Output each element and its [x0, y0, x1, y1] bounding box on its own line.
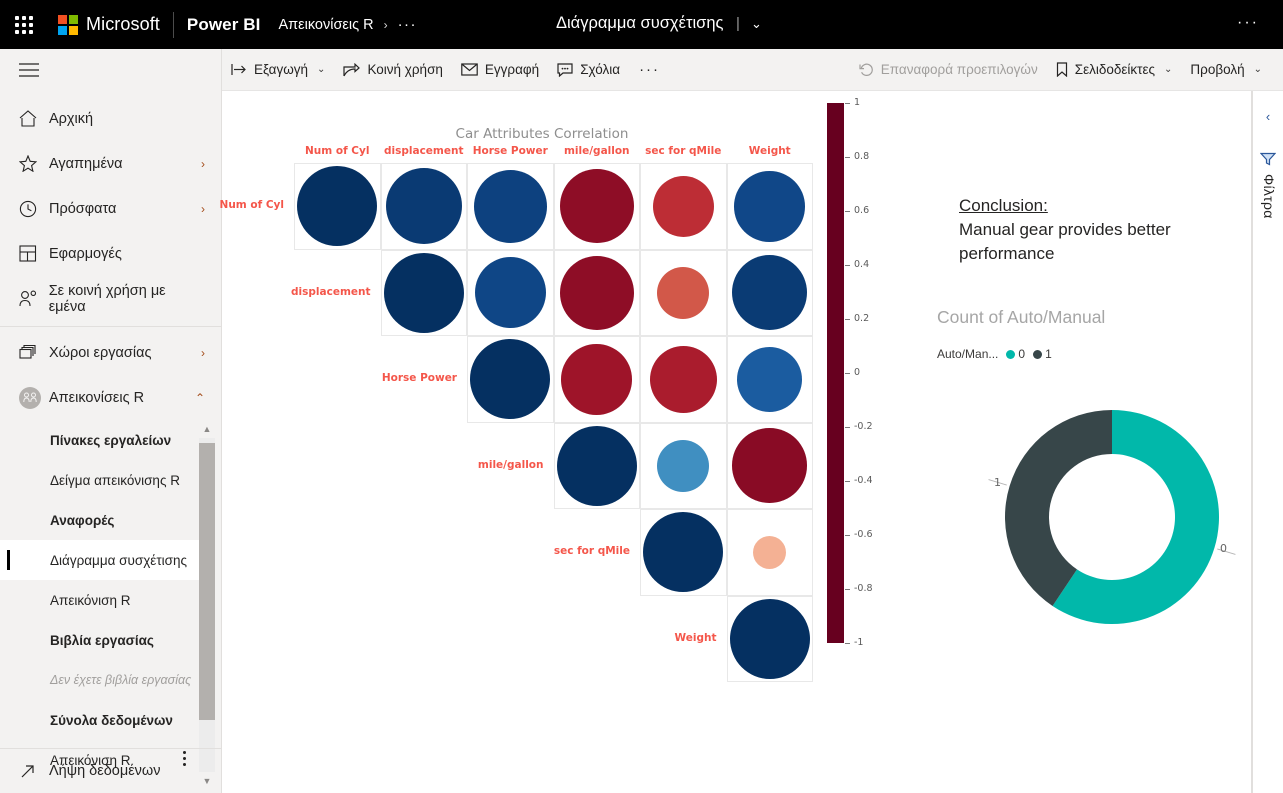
- matrix-circle: [753, 536, 786, 569]
- list-section-header-workbooks: Βιβλία εργασίας: [0, 620, 200, 660]
- conclusion-text: Manual gear provides better performance: [959, 218, 1229, 266]
- sidebar-item-label: Απεικονίσεις R: [49, 390, 195, 406]
- matrix-circle: [386, 168, 462, 244]
- matrix-cell[interactable]: [727, 336, 814, 423]
- conclusion-textbox: Conclusion: Manual gear provides better …: [959, 196, 1229, 266]
- workspace-content-list: Πίνακες εργαλείων Δείγμα απεικόνισης R Α…: [0, 420, 221, 790]
- matrix-circle: [474, 170, 547, 243]
- reset-to-default-button: Επαναφορά προεπιλογών: [850, 49, 1047, 91]
- app-launcher-icon[interactable]: [0, 0, 48, 49]
- colorbar-tick-mark: [845, 481, 850, 482]
- list-item-report-r-visual[interactable]: Απεικόνιση R: [0, 580, 200, 620]
- colorbar-tick: -0.2: [845, 427, 889, 428]
- matrix-cell[interactable]: [640, 163, 727, 250]
- legend-item-1[interactable]: 1: [1033, 347, 1052, 361]
- chevron-up-icon[interactable]: ⌃: [195, 391, 205, 405]
- correlation-colorbar: 10.80.60.40.20-0.2-0.4-0.6-0.8-1: [827, 103, 844, 643]
- matrix-row-label: mile/gallon: [404, 459, 544, 471]
- list-section-header-datasets: Σύνολα δεδομένων: [0, 700, 200, 740]
- workspace-avatar-icon: [19, 387, 49, 409]
- topbar-more-button[interactable]: ···: [1237, 14, 1259, 32]
- colorbar-tick-mark: [845, 103, 850, 104]
- sidebar-item-label: Αγαπημένα: [49, 156, 201, 172]
- colorbar-tick: 0.2: [845, 319, 889, 320]
- list-section-header-reports: Αναφορές: [0, 500, 200, 540]
- legend-swatch-icon: [1033, 350, 1042, 359]
- chevron-right-icon[interactable]: ›: [201, 157, 205, 171]
- colorbar-tick-label: -0.4: [854, 475, 873, 486]
- matrix-circle: [561, 344, 632, 415]
- donut-legend[interactable]: Auto/Man... 0 1: [937, 347, 1052, 361]
- list-item-dashboard-sample[interactable]: Δείγμα απεικόνισης R: [0, 460, 200, 500]
- matrix-circle: [737, 347, 802, 412]
- legend-field-label: Auto/Man...: [937, 347, 998, 361]
- sidebar-item-label: Σε κοινή χρήση με εμένα: [49, 283, 205, 315]
- correlation-chart-title: Car Attributes Correlation: [222, 126, 862, 142]
- matrix-column-label: sec for qMile: [640, 145, 727, 157]
- nav-divider: [0, 326, 221, 327]
- colorbar-tick-mark: [845, 535, 850, 536]
- colorbar-tick-label: 0.4: [854, 259, 869, 270]
- matrix-column-label: Weight: [727, 145, 814, 157]
- sidebar-item-get-data[interactable]: Λήψη δεδομένων: [0, 748, 221, 793]
- divider: [173, 12, 174, 38]
- sidebar-item-r-visuals-workspace[interactable]: Απεικονίσεις R ⌃: [0, 375, 221, 420]
- scrollbar-thumb[interactable]: [199, 443, 215, 720]
- matrix-circle: [560, 256, 634, 330]
- matrix-circle: [732, 428, 807, 503]
- matrix-circle: [470, 339, 550, 419]
- matrix-row-label: displacement: [231, 286, 371, 298]
- legend-item-0[interactable]: 0: [1006, 347, 1025, 361]
- matrix-circle: [650, 346, 717, 413]
- matrix-cell[interactable]: [727, 596, 814, 683]
- donut-slice[interactable]: [1005, 410, 1112, 606]
- list-item-label: Δεν έχετε βιβλία εργασίας: [50, 673, 191, 687]
- sidebar-item-label: Λήψη δεδομένων: [49, 763, 221, 779]
- star-icon: [19, 155, 49, 172]
- filters-label: Φίλτρα: [1261, 174, 1277, 219]
- sidebar-item-shared-with-me[interactable]: Σε κοινή χρήση με εμένα: [0, 276, 221, 321]
- bookmarks-button[interactable]: Σελιδοδείκτες ⌄: [1047, 49, 1182, 91]
- colorbar-tick-mark: [845, 373, 850, 374]
- shared-user-icon: [19, 290, 49, 307]
- matrix-column-label: Horse Power: [467, 145, 554, 157]
- top-navigation-bar: Microsoft Power BI Απεικονίσεις R › ··· …: [0, 0, 1283, 49]
- matrix-cell[interactable]: [554, 423, 641, 510]
- matrix-circle: [643, 512, 723, 592]
- funnel-icon[interactable]: [1253, 152, 1283, 166]
- colorbar-tick: 1: [845, 103, 889, 104]
- filters-pane-collapsed[interactable]: ‹ Φίλτρα: [1252, 91, 1283, 793]
- home-icon: [19, 110, 49, 127]
- list-item-label: Δείγμα απεικόνισης R: [50, 473, 180, 488]
- subscribe-button[interactable]: Εγγραφή: [452, 49, 548, 91]
- list-item-label: Απεικόνιση R: [50, 593, 131, 608]
- colorbar-tick-mark: [845, 319, 850, 320]
- comments-label: Σχόλια: [580, 62, 620, 77]
- colorbar-tick-mark: [845, 157, 850, 158]
- matrix-cell[interactable]: [554, 336, 641, 423]
- share-label: Κοινή χρήση: [367, 62, 442, 77]
- matrix-circle: [730, 599, 810, 679]
- report-command-bar: Εξαγωγή ⌄ Κοινή χρήση Εγγραφή Σχόλια ···…: [222, 49, 1283, 91]
- matrix-cell[interactable]: [467, 336, 554, 423]
- colorbar-tick-label: -0.6: [854, 529, 873, 540]
- export-label: Εξαγωγή: [254, 62, 308, 77]
- matrix-cell[interactable]: [381, 163, 468, 250]
- sidebar-item-label: Εφαρμογές: [49, 246, 205, 262]
- colorbar-tick-label: 0.2: [854, 313, 869, 324]
- scroll-up-icon[interactable]: ▲: [199, 420, 215, 438]
- colorbar-tick: -0.8: [845, 589, 889, 590]
- comments-button[interactable]: Σχόλια: [548, 49, 629, 91]
- matrix-row-label: Horse Power: [317, 372, 457, 384]
- expand-filters-icon[interactable]: ‹: [1253, 109, 1283, 124]
- colorbar-gradient: [827, 103, 844, 643]
- list-item-label: Διάγραμμα συσχέτισης: [50, 553, 187, 568]
- sidebar-item-label: Χώροι εργασίας: [49, 345, 201, 361]
- microsoft-logo[interactable]: Microsoft: [58, 14, 160, 35]
- list-section-header-dashboards: Πίνακες εργαλείων: [0, 420, 200, 460]
- matrix-cell[interactable]: [381, 250, 468, 337]
- report-title: Διάγραμμα συσχέτισης: [556, 14, 723, 33]
- matrix-circle: [475, 257, 546, 328]
- matrix-cell[interactable]: [467, 250, 554, 337]
- selection-indicator: [7, 550, 10, 570]
- colorbar-tick-mark: [845, 265, 850, 266]
- colorbar-tick-mark: [845, 211, 850, 212]
- matrix-cell[interactable]: [727, 250, 814, 337]
- matrix-cell[interactable]: [640, 509, 727, 596]
- hamburger-icon[interactable]: [0, 49, 221, 91]
- microsoft-squares-icon: [58, 15, 78, 35]
- title-divider: |: [736, 15, 740, 32]
- colorbar-tick: 0: [845, 373, 889, 374]
- list-empty-message-workbooks: Δεν έχετε βιβλία εργασίας: [0, 660, 200, 700]
- matrix-circle: [732, 255, 807, 330]
- donut-callout-label-0: 0: [1220, 542, 1227, 555]
- matrix-row-label: Num of Cyl: [144, 199, 284, 211]
- view-label: Προβολή: [1190, 62, 1244, 77]
- report-canvas: Car Attributes Correlation Num of Cyldis…: [222, 91, 1252, 793]
- breadcrumb-workspace[interactable]: Απεικονίσεις R: [278, 17, 373, 33]
- colorbar-tick-label: 0: [854, 367, 860, 378]
- matrix-cell[interactable]: [554, 250, 641, 337]
- colorbar-tick-label: 1: [854, 97, 860, 108]
- colorbar-tick-label: 0.6: [854, 205, 869, 216]
- matrix-column-label: mile/gallon: [554, 145, 641, 157]
- sidebar-item-home[interactable]: Αρχική: [0, 96, 221, 141]
- chevron-down-icon[interactable]: ⌄: [1254, 64, 1262, 75]
- nav-primary-list: Αρχική Αγαπημένα › Πρόσφατα ›: [0, 91, 221, 420]
- colorbar-ticks: 10.80.60.40.20-0.2-0.4-0.6-0.8-1: [845, 103, 889, 643]
- matrix-circle: [657, 440, 709, 492]
- list-item-report-correlation-diagram[interactable]: Διάγραμμα συσχέτισης: [0, 540, 200, 580]
- sidebar-item-favorites[interactable]: Αγαπημένα ›: [0, 141, 221, 186]
- legend-item-label: 1: [1045, 347, 1052, 361]
- donut-chart-visual[interactable]: 0 1: [972, 396, 1252, 656]
- colorbar-tick: 0.4: [845, 265, 889, 266]
- get-data-icon: [19, 763, 49, 780]
- left-navigation-pane: Αρχική Αγαπημένα › Πρόσφατα ›: [0, 49, 222, 793]
- matrix-cell[interactable]: [640, 336, 727, 423]
- colorbar-tick: -1: [845, 643, 889, 644]
- sidebar-scrollbar[interactable]: ▲ ▼: [199, 420, 215, 790]
- matrix-column-label: Num of Cyl: [294, 145, 381, 157]
- matrix-cell[interactable]: [294, 163, 381, 250]
- powerbi-wordmark[interactable]: Power BI: [187, 15, 261, 35]
- apps-icon: [19, 245, 49, 262]
- chevron-down-icon[interactable]: ⌄: [317, 64, 325, 75]
- sidebar-item-workspaces[interactable]: Χώροι εργασίας ›: [0, 330, 221, 375]
- matrix-circle: [653, 176, 714, 237]
- matrix-circle: [734, 171, 805, 242]
- matrix-circle: [657, 267, 709, 319]
- colorbar-tick: 0.8: [845, 157, 889, 158]
- matrix-cell[interactable]: [640, 250, 727, 337]
- matrix-circle: [557, 426, 637, 506]
- workspaces-icon: [19, 344, 49, 361]
- colorbar-tick: -0.4: [845, 481, 889, 482]
- conclusion-heading: Conclusion:: [959, 196, 1229, 216]
- clock-icon: [19, 200, 49, 218]
- list-item-label: Αναφορές: [50, 513, 114, 528]
- chevron-down-icon[interactable]: ⌄: [751, 16, 762, 32]
- chevron-right-icon: ›: [384, 18, 388, 32]
- matrix-row-label: sec for qMile: [490, 545, 630, 557]
- matrix-circle: [384, 253, 464, 333]
- bookmarks-label: Σελιδοδείκτες: [1075, 62, 1155, 77]
- chevron-down-icon[interactable]: ⌄: [1164, 64, 1172, 75]
- colorbar-tick-label: -0.2: [854, 421, 873, 432]
- export-button[interactable]: Εξαγωγή ⌄: [222, 49, 334, 91]
- colorbar-tick-mark: [845, 643, 850, 644]
- donut-callout-label-1: 1: [994, 476, 1001, 489]
- matrix-row-label: Weight: [577, 632, 717, 644]
- chevron-right-icon[interactable]: ›: [201, 346, 205, 360]
- subscribe-label: Εγγραφή: [485, 62, 539, 77]
- list-item-label: Σύνολα δεδομένων: [50, 713, 173, 728]
- colorbar-tick: 0.6: [845, 211, 889, 212]
- list-item-label: Βιβλία εργασίας: [50, 633, 154, 648]
- colorbar-tick: -0.6: [845, 535, 889, 536]
- microsoft-wordmark: Microsoft: [86, 14, 160, 35]
- share-button[interactable]: Κοινή χρήση: [334, 49, 451, 91]
- colorbar-tick-label: 0.8: [854, 151, 869, 162]
- matrix-cell[interactable]: [727, 163, 814, 250]
- legend-item-label: 0: [1018, 347, 1025, 361]
- colorbar-tick-mark: [845, 589, 850, 590]
- matrix-cell[interactable]: [640, 423, 727, 510]
- donut-chart-title: Count of Auto/Manual: [937, 307, 1105, 328]
- view-button[interactable]: Προβολή ⌄: [1181, 49, 1271, 91]
- legend-swatch-icon: [1006, 350, 1015, 359]
- matrix-cell[interactable]: [554, 163, 641, 250]
- matrix-circle: [560, 169, 634, 243]
- power-bi-app: Microsoft Power BI Απεικονίσεις R › ··· …: [0, 0, 1283, 793]
- breadcrumb-more-button[interactable]: ···: [398, 16, 418, 33]
- list-item-label: Πίνακες εργαλείων: [50, 433, 171, 448]
- matrix-cell[interactable]: [467, 163, 554, 250]
- matrix-cell[interactable]: [727, 509, 814, 596]
- commandbar-more-button[interactable]: ···: [629, 61, 670, 78]
- colorbar-tick-label: -0.8: [854, 583, 873, 594]
- colorbar-tick-label: -1: [854, 637, 863, 648]
- sidebar-item-apps[interactable]: Εφαρμογές: [0, 231, 221, 276]
- reset-label: Επαναφορά προεπιλογών: [881, 62, 1038, 77]
- sidebar-item-label: Αρχική: [49, 111, 205, 127]
- matrix-column-label: displacement: [381, 145, 468, 157]
- matrix-cell[interactable]: [727, 423, 814, 510]
- matrix-circle: [297, 166, 377, 246]
- colorbar-tick-mark: [845, 427, 850, 428]
